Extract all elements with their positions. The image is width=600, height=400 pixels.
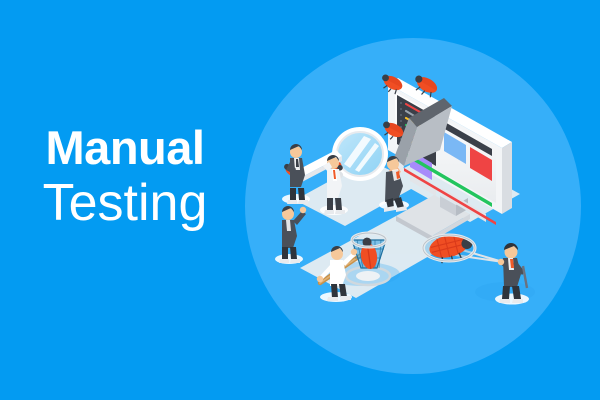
illustration xyxy=(0,0,600,400)
manual-testing-banner: Manual Testing xyxy=(0,0,600,400)
tester-net-right xyxy=(495,243,529,305)
tester-waving xyxy=(275,206,306,264)
